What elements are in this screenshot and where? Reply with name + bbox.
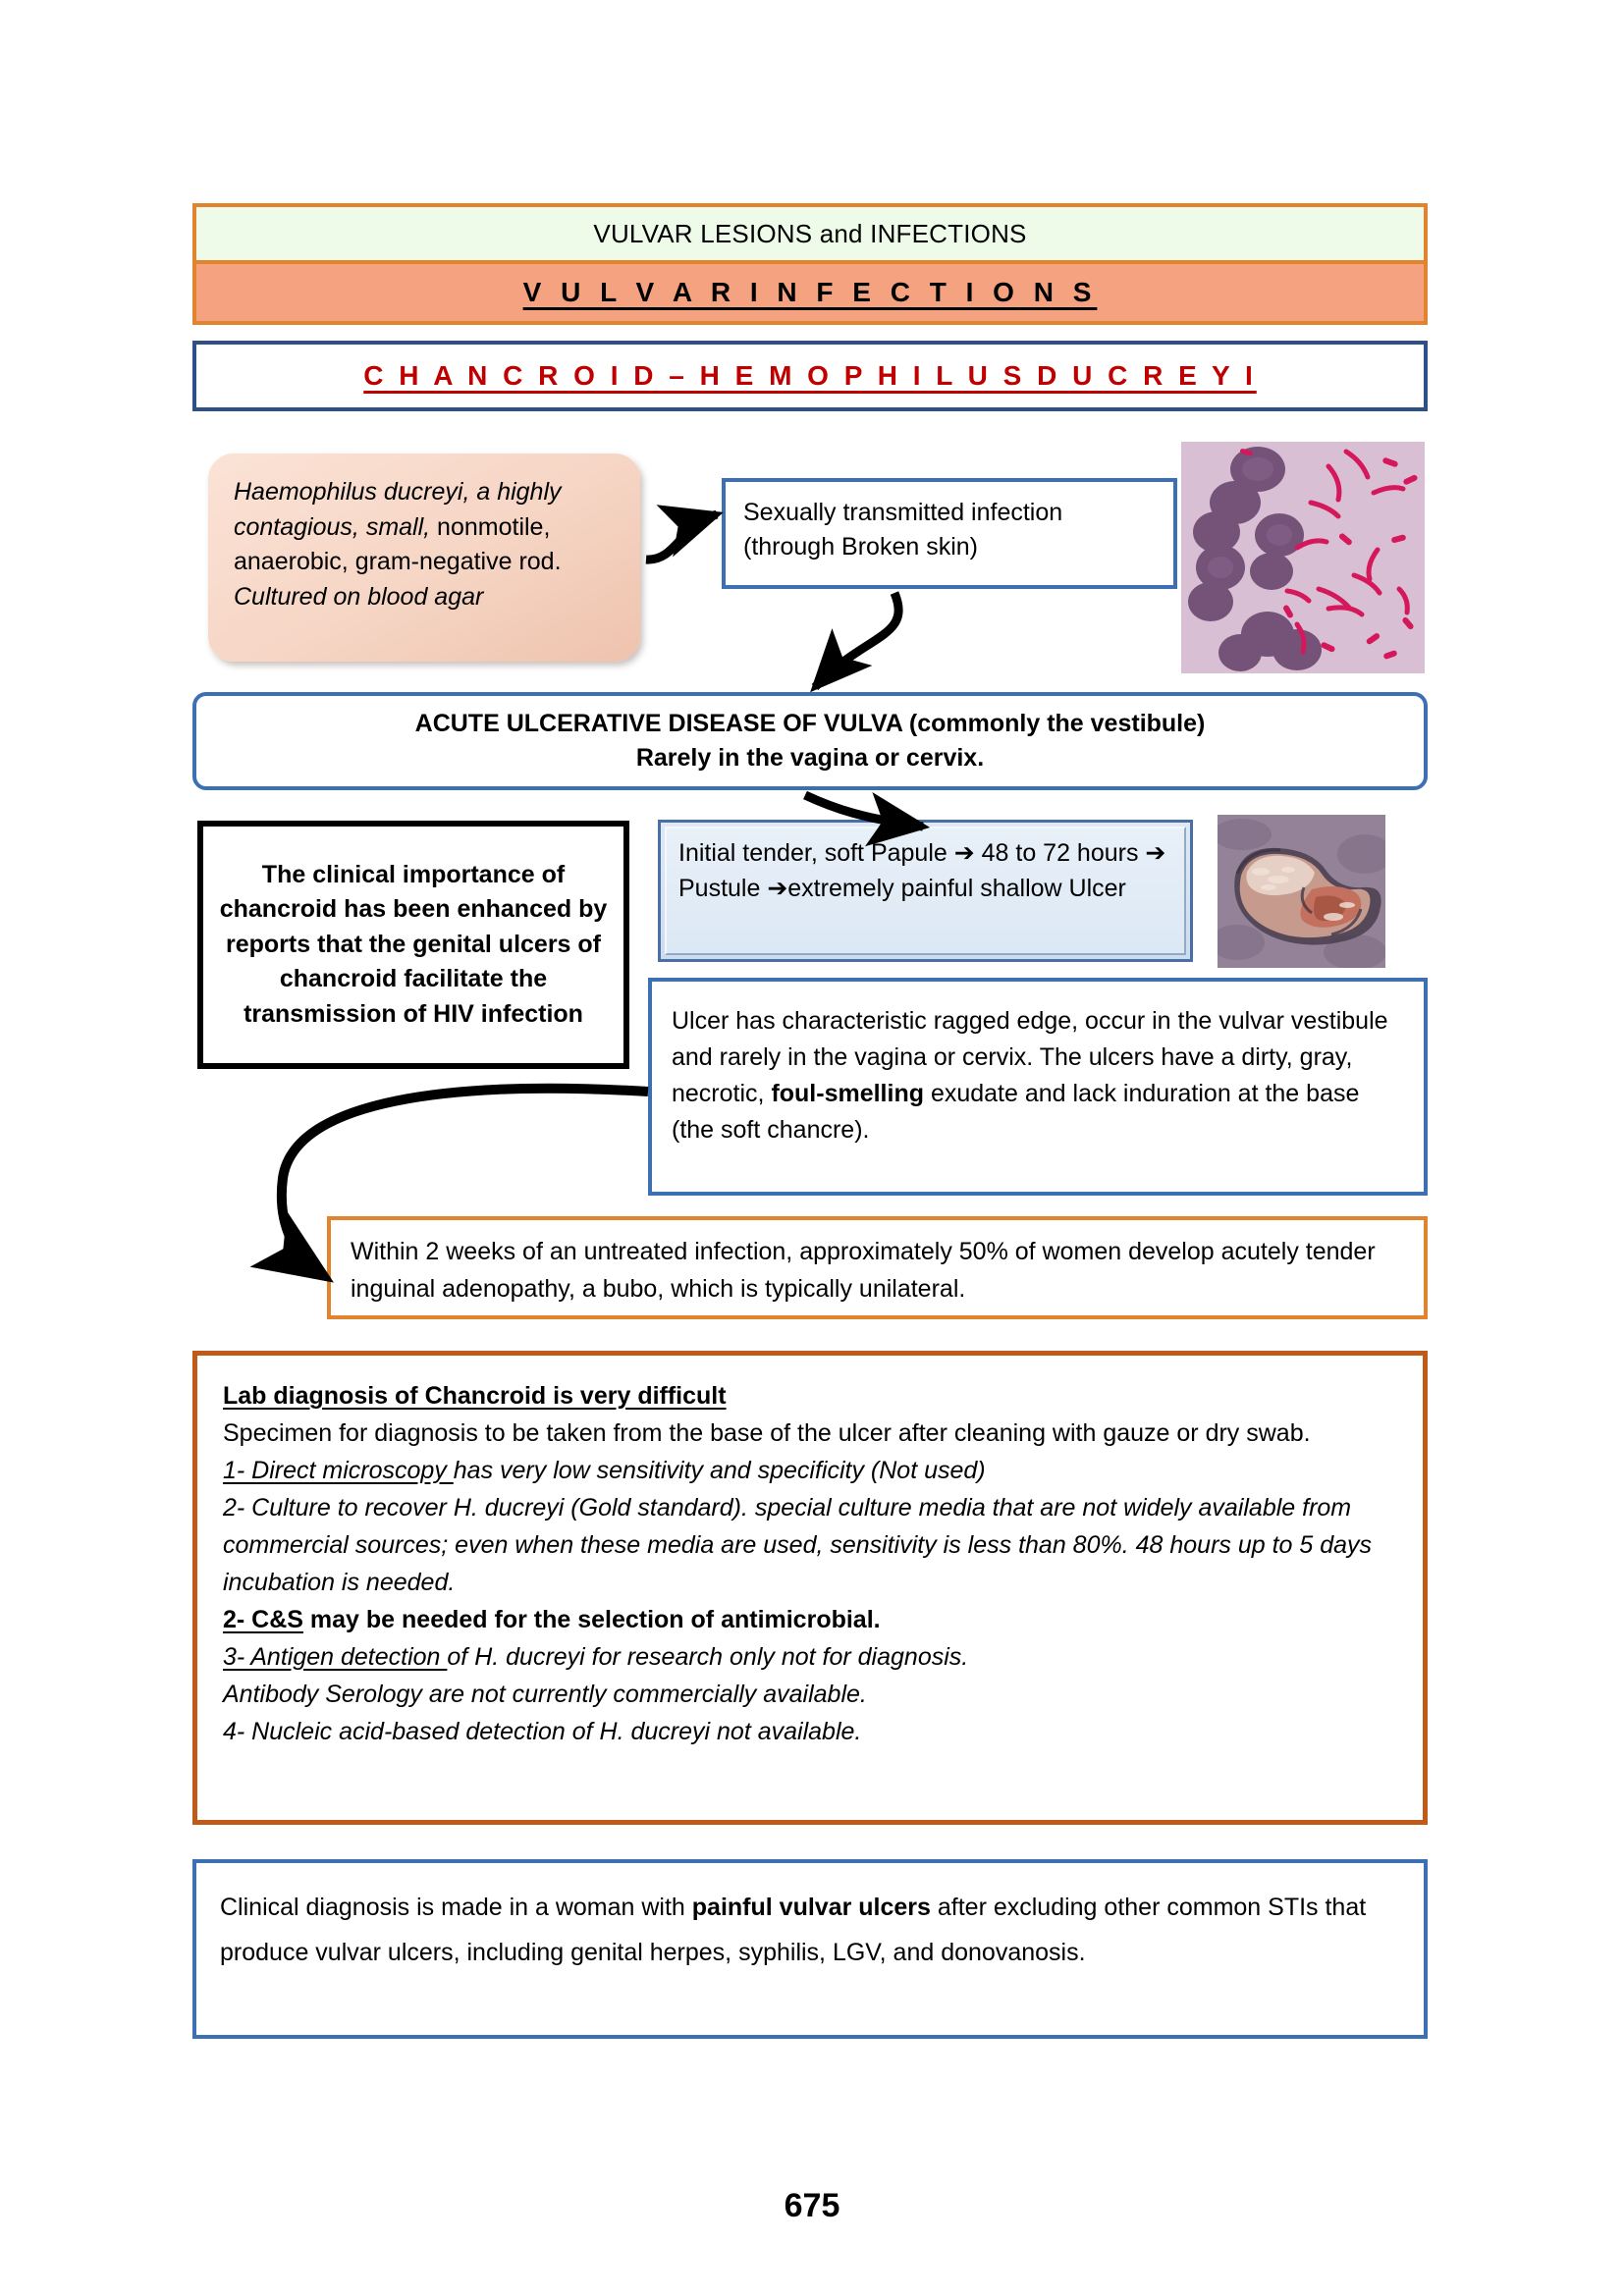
document-page: VULVAR LESIONS and INFECTIONS V U L V A … bbox=[0, 0, 1624, 2296]
transmission-line-1: Sexually transmitted infection bbox=[743, 499, 1062, 526]
lab-diagnosis-box: Lab diagnosis of Chancroid is very diffi… bbox=[192, 1351, 1428, 1825]
ulcer-photo-illustration bbox=[1218, 815, 1385, 968]
clinical-diagnosis-box: Clinical diagnosis is made in a woman wi… bbox=[192, 1859, 1428, 2039]
lab-item-2-text: 2- Culture to recover H. ducreyi (Gold s… bbox=[223, 1494, 1372, 1596]
lab-item-4: 3- Antigen detection of H. ducreyi for r… bbox=[223, 1638, 1401, 1676]
lab-item-3-label: 2- C&S bbox=[223, 1606, 303, 1633]
acute-line-2: Rarely in the vagina or cervix. bbox=[636, 741, 984, 776]
organism-line-2-plain: nonmotile, bbox=[430, 513, 550, 541]
lab-item-5-text: Antibody Serology are not currently comm… bbox=[223, 1681, 867, 1708]
lab-intro: Specimen for diagnosis to be taken from … bbox=[223, 1415, 1401, 1452]
lab-item-3: 2- C&S may be needed for the selection o… bbox=[223, 1601, 1401, 1638]
transmission-line-2: (through Broken skin) bbox=[743, 533, 978, 561]
hiv-importance-text: The clinical importance of chancroid has… bbox=[217, 858, 610, 1033]
clinical-bold: painful vulvar ulcers bbox=[692, 1894, 931, 1921]
transmission-box: Sexually transmitted infection (through … bbox=[722, 478, 1177, 589]
section-title-bar: VULVAR LESIONS and INFECTIONS bbox=[192, 203, 1428, 264]
lab-item-1-text: has very low sensitivity and specificity… bbox=[454, 1457, 986, 1484]
lab-item-5: Antibody Serology are not currently comm… bbox=[223, 1676, 1401, 1713]
lab-item-2: 2- Culture to recover H. ducreyi (Gold s… bbox=[223, 1489, 1401, 1601]
ulcer-description-box: Ulcer has characteristic ragged edge, oc… bbox=[648, 978, 1428, 1196]
topic-title-box: C H A N C R O I D – H E M O P H I L U S … bbox=[192, 341, 1428, 411]
acute-line-1: ACUTE ULCERATIVE DISEASE OF VULVA (commo… bbox=[415, 707, 1206, 742]
lab-heading: Lab diagnosis of Chancroid is very diffi… bbox=[223, 1377, 1401, 1415]
arrow-organism-to-transmission bbox=[646, 514, 717, 560]
ulcer-clinical-photo bbox=[1218, 815, 1385, 968]
organism-line-1: Haemophilus ducreyi, a highly bbox=[234, 478, 562, 506]
lab-item-3-text: may be needed for the selection of antim… bbox=[303, 1606, 881, 1633]
gram-stain-illustration bbox=[1181, 442, 1425, 673]
page-number: 675 bbox=[0, 2187, 1624, 2225]
topic-title: C H A N C R O I D – H E M O P H I L U S … bbox=[363, 360, 1257, 392]
lab-item-6: 4- Nucleic acid-based detection of H. du… bbox=[223, 1713, 1401, 1750]
organism-line-4: Cultured on blood agar bbox=[234, 583, 483, 611]
clinical-part-1: Clinical diagnosis is made in a woman wi… bbox=[220, 1894, 692, 1921]
page-header: VULVAR LESIONS and INFECTIONS V U L V A … bbox=[192, 203, 1428, 325]
lab-item-1: 1- Direct microscopy has very low sensit… bbox=[223, 1452, 1401, 1489]
lesion-progression-text: Initial tender, soft Papule ➔ 48 to 72 h… bbox=[678, 839, 1165, 902]
lab-item-1-label: 1- Direct microscopy bbox=[223, 1457, 454, 1484]
organism-line-2-italic: contagious, small, bbox=[234, 513, 430, 541]
bubo-box: Within 2 weeks of an untreated infection… bbox=[327, 1216, 1428, 1319]
acute-disease-box: ACUTE ULCERATIVE DISEASE OF VULVA (commo… bbox=[192, 692, 1428, 790]
organism-description-box: Haemophilus ducreyi, a highly contagious… bbox=[208, 454, 640, 662]
arrow-transmission-to-acute bbox=[815, 593, 898, 687]
lab-item-4-label: 3- Antigen detection bbox=[223, 1643, 447, 1671]
gram-stain-image bbox=[1181, 442, 1425, 673]
subsection-title-bar: V U L V A R I N F E C T I O N S bbox=[192, 264, 1428, 325]
lesion-progression-box: Initial tender, soft Papule ➔ 48 to 72 h… bbox=[658, 820, 1193, 962]
lab-item-4-text: of H. ducreyi for research only not for … bbox=[447, 1643, 968, 1671]
section-title: VULVAR LESIONS and INFECTIONS bbox=[593, 219, 1026, 249]
subsection-title: V U L V A R I N F E C T I O N S bbox=[523, 277, 1098, 308]
lesion-progression-inner: Initial tender, soft Papule ➔ 48 to 72 h… bbox=[665, 827, 1186, 955]
organism-line-3: anaerobic, gram-negative rod. bbox=[234, 548, 562, 575]
hiv-importance-box: The clinical importance of chancroid has… bbox=[197, 821, 629, 1069]
ulcer-desc-bold: foul-smelling bbox=[771, 1080, 924, 1107]
lab-item-6-text: 4- Nucleic acid-based detection of H. du… bbox=[223, 1718, 861, 1745]
bubo-text: Within 2 weeks of an untreated infection… bbox=[351, 1238, 1376, 1303]
